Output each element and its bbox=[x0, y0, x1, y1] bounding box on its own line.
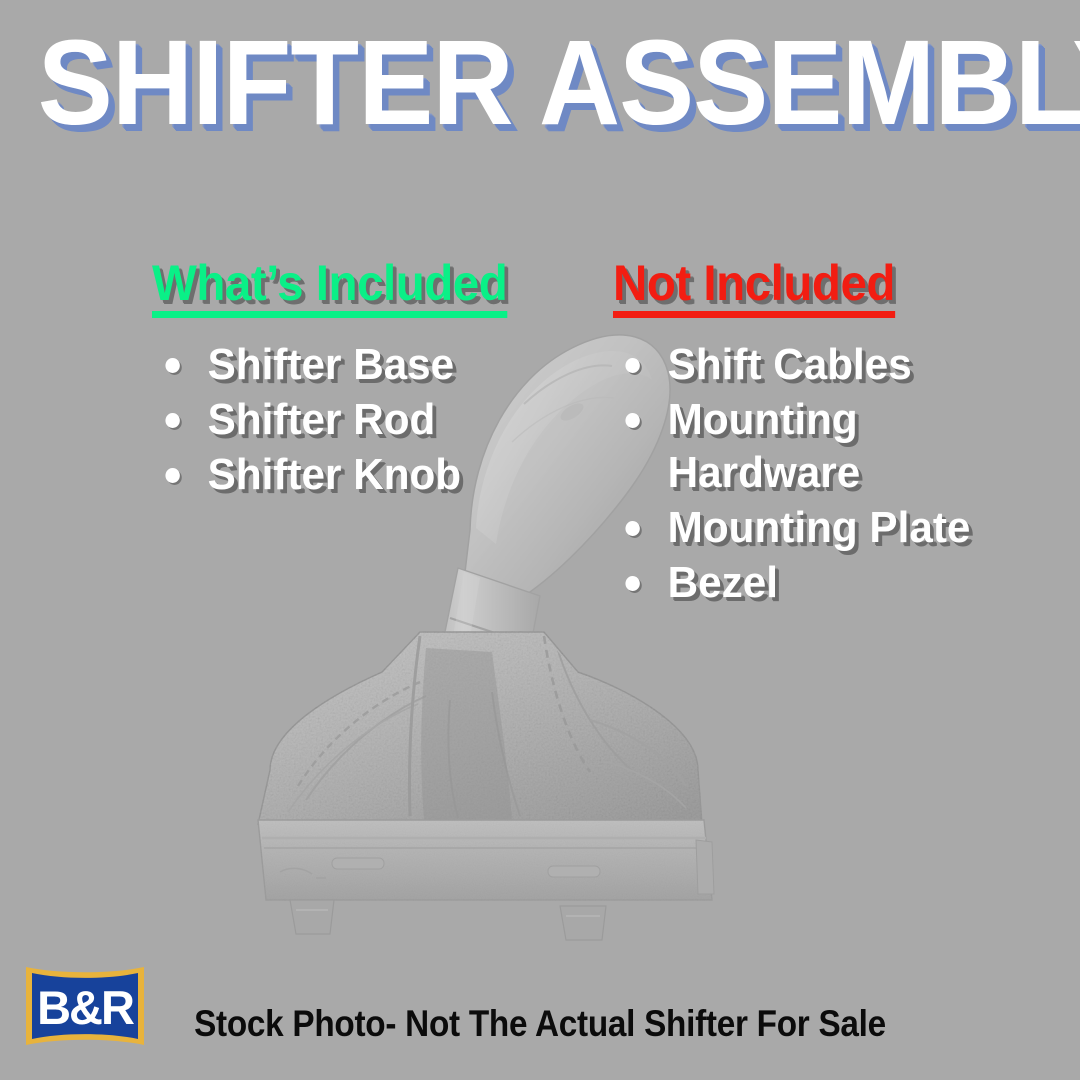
bullet-dot-icon bbox=[165, 468, 179, 483]
brand-logo: B&R bbox=[22, 962, 148, 1050]
heading-whats-included: What’s Included bbox=[152, 258, 507, 318]
list-item-label: Mounting Hardware bbox=[668, 393, 1016, 499]
bullet-dot-icon bbox=[625, 576, 639, 591]
shifter-base-shape bbox=[258, 820, 714, 940]
shifter-rod-shape bbox=[438, 568, 540, 692]
list-item: Shift Cables bbox=[612, 338, 1015, 391]
list-item: Mounting Hardware bbox=[612, 393, 1015, 499]
list-item-label: Shifter Base bbox=[208, 338, 556, 391]
bullet-dot-icon bbox=[165, 413, 179, 428]
bullet-dot-icon bbox=[165, 358, 179, 373]
list-item: Mounting Plate bbox=[612, 501, 1015, 554]
heading-not-included: Not Included bbox=[613, 258, 895, 318]
list-item-label: Shift Cables bbox=[668, 338, 1016, 391]
not-included-list: Shift Cables Mounting Hardware Mounting … bbox=[612, 338, 1032, 611]
logo-text: B&R bbox=[37, 981, 134, 1034]
bullet-dot-icon bbox=[625, 413, 639, 428]
list-item-label: Bezel bbox=[668, 556, 1016, 609]
stock-photo-disclaimer: Stock Photo- Not The Actual Shifter For … bbox=[54, 1005, 1026, 1042]
shifter-boot-shape bbox=[258, 632, 702, 824]
list-item: Shifter Base bbox=[152, 338, 555, 391]
list-item: Shifter Knob bbox=[152, 448, 555, 501]
bullet-dot-icon bbox=[625, 521, 639, 536]
page-title: SHIFTER ASSEMBLY bbox=[38, 22, 1042, 143]
list-item: Bezel bbox=[612, 556, 1015, 609]
list-item-label-line1: Mounting bbox=[668, 395, 858, 444]
list-item-label: Shifter Knob bbox=[208, 448, 556, 501]
list-item-label: Mounting Plate bbox=[668, 501, 1016, 554]
bullet-dot-icon bbox=[625, 358, 639, 373]
shifter-assembly-graphic: SHIFTER ASSEMBLY What’s Included Shifter… bbox=[0, 0, 1080, 1080]
list-item-label-line2: Hardware bbox=[668, 446, 1016, 499]
list-item: Shifter Rod bbox=[152, 393, 555, 446]
list-item-label: Shifter Rod bbox=[208, 393, 556, 446]
included-list: Shifter Base Shifter Rod Shifter Knob bbox=[152, 338, 572, 503]
